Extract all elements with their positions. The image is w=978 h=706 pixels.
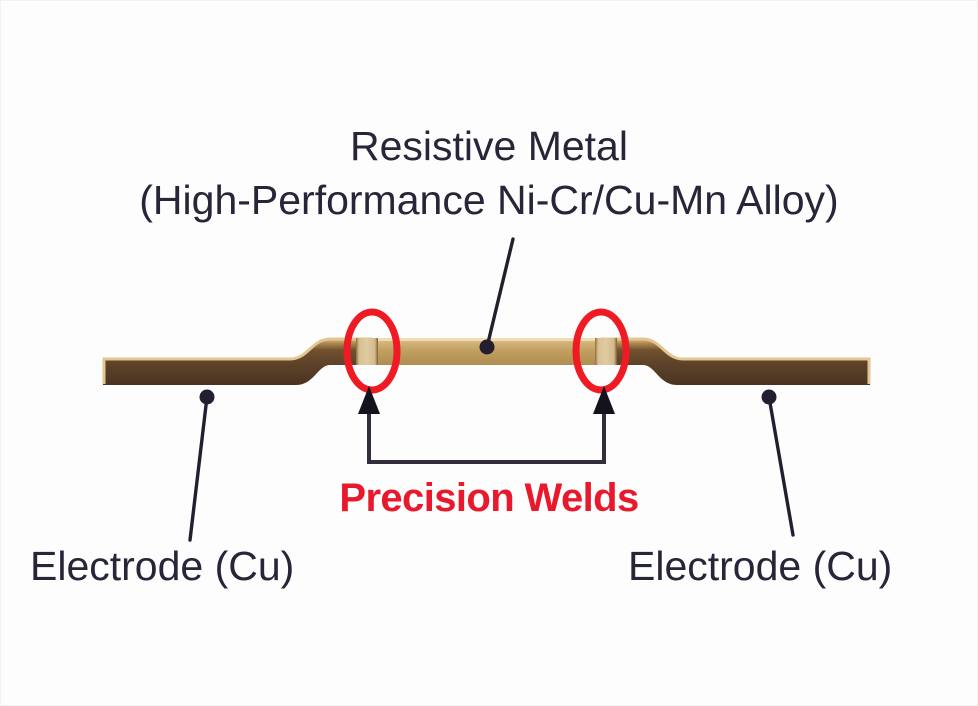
resistive-metal-callout xyxy=(480,239,514,355)
resistive-callout-dot-icon xyxy=(480,340,495,355)
electrode-left-callout-dot-icon xyxy=(200,390,215,405)
resistive-leader-line xyxy=(487,239,513,347)
precision-welds-label: Precision Welds xyxy=(0,476,978,521)
electrode-left-shape xyxy=(103,338,372,385)
precision-weld-bracket xyxy=(358,386,615,462)
resistive-metal-subtitle: (High-Performance Ni-Cr/Cu-Mn Alloy) xyxy=(0,178,978,224)
electrode-right-shape xyxy=(601,338,870,385)
electrode-right-label: Electrode (Cu) xyxy=(628,544,892,590)
electrode-left-label: Electrode (Cu) xyxy=(30,544,294,590)
weld-band-left xyxy=(356,338,378,365)
weld-bracket-path xyxy=(369,408,604,462)
resistive-metal-title: Resistive Metal xyxy=(0,124,978,170)
shunt-resistor-cross-section xyxy=(0,0,978,706)
electrode-right-callout-dot-icon xyxy=(762,390,777,405)
diagram-canvas: Resistive Metal (High-Performance Ni-Cr/… xyxy=(0,0,978,706)
weld-band-right xyxy=(595,338,617,365)
